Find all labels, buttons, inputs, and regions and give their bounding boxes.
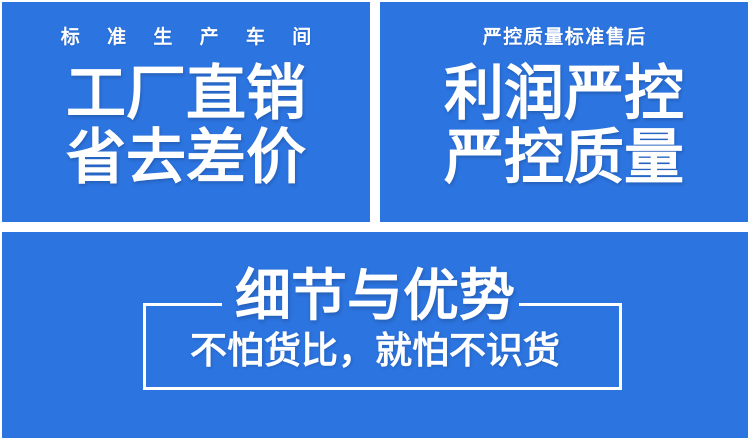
panel-kicker-left: 标 准 生 产 车 间 [50,28,322,47]
panel-headline-right-line2: 严控质量 [444,130,684,186]
promo-banner: 标 准 生 产 车 间 工厂直销 省去差价 严控质量标准售后 利润严控 严控质量… [0,0,750,440]
section-subtitle: 不怕货比，就怕不识货 [2,331,748,371]
section-title: 细节与优势 [2,269,748,323]
panel-content: 严控质量标准售后 利润严控 严控质量 [380,2,748,222]
panel-details-advantages: 细节与优势 不怕货比，就怕不识货 [2,232,748,438]
panel-headline-right-line1: 利润严控 [444,66,684,122]
panel-quality-control: 严控质量标准售后 利润严控 严控质量 [380,2,748,222]
panel-kicker-right: 严控质量标准售后 [481,28,647,47]
panel-headline-left-line1: 工厂直销 [66,66,306,122]
top-panel-row: 标 准 生 产 车 间 工厂直销 省去差价 严控质量标准售后 利润严控 严控质量 [2,2,748,222]
panel-factory-direct: 标 准 生 产 车 间 工厂直销 省去差价 [2,2,370,222]
panel-headline-left-line2: 省去差价 [66,130,306,186]
panel-content: 标 准 生 产 车 间 工厂直销 省去差价 [2,2,370,222]
